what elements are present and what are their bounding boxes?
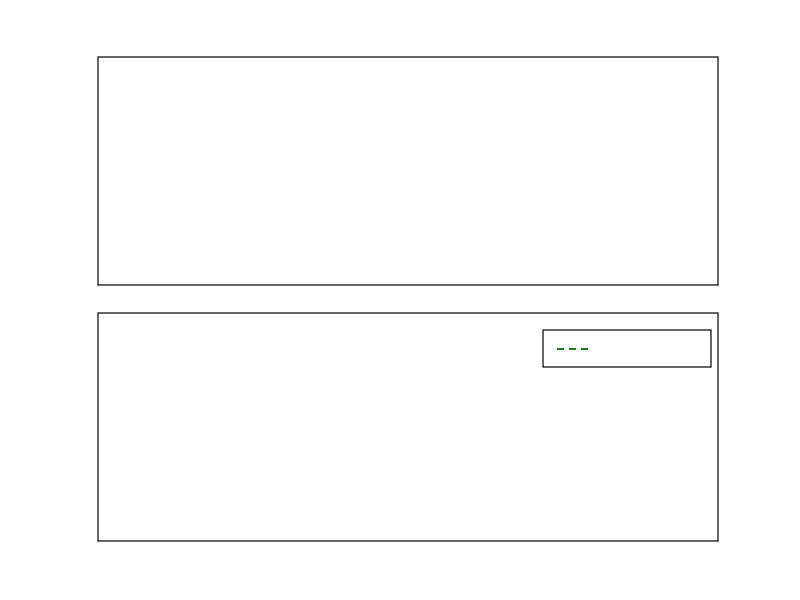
legend-box xyxy=(543,330,711,367)
chart-legend[interactable] xyxy=(543,330,711,367)
figure-canvas xyxy=(0,0,800,600)
matplotlib-figure xyxy=(0,0,800,600)
top-axes-frame xyxy=(98,57,718,285)
top-panel-differential-histogram xyxy=(98,57,718,285)
bottom-panel-cumulative-histogram xyxy=(98,313,718,541)
